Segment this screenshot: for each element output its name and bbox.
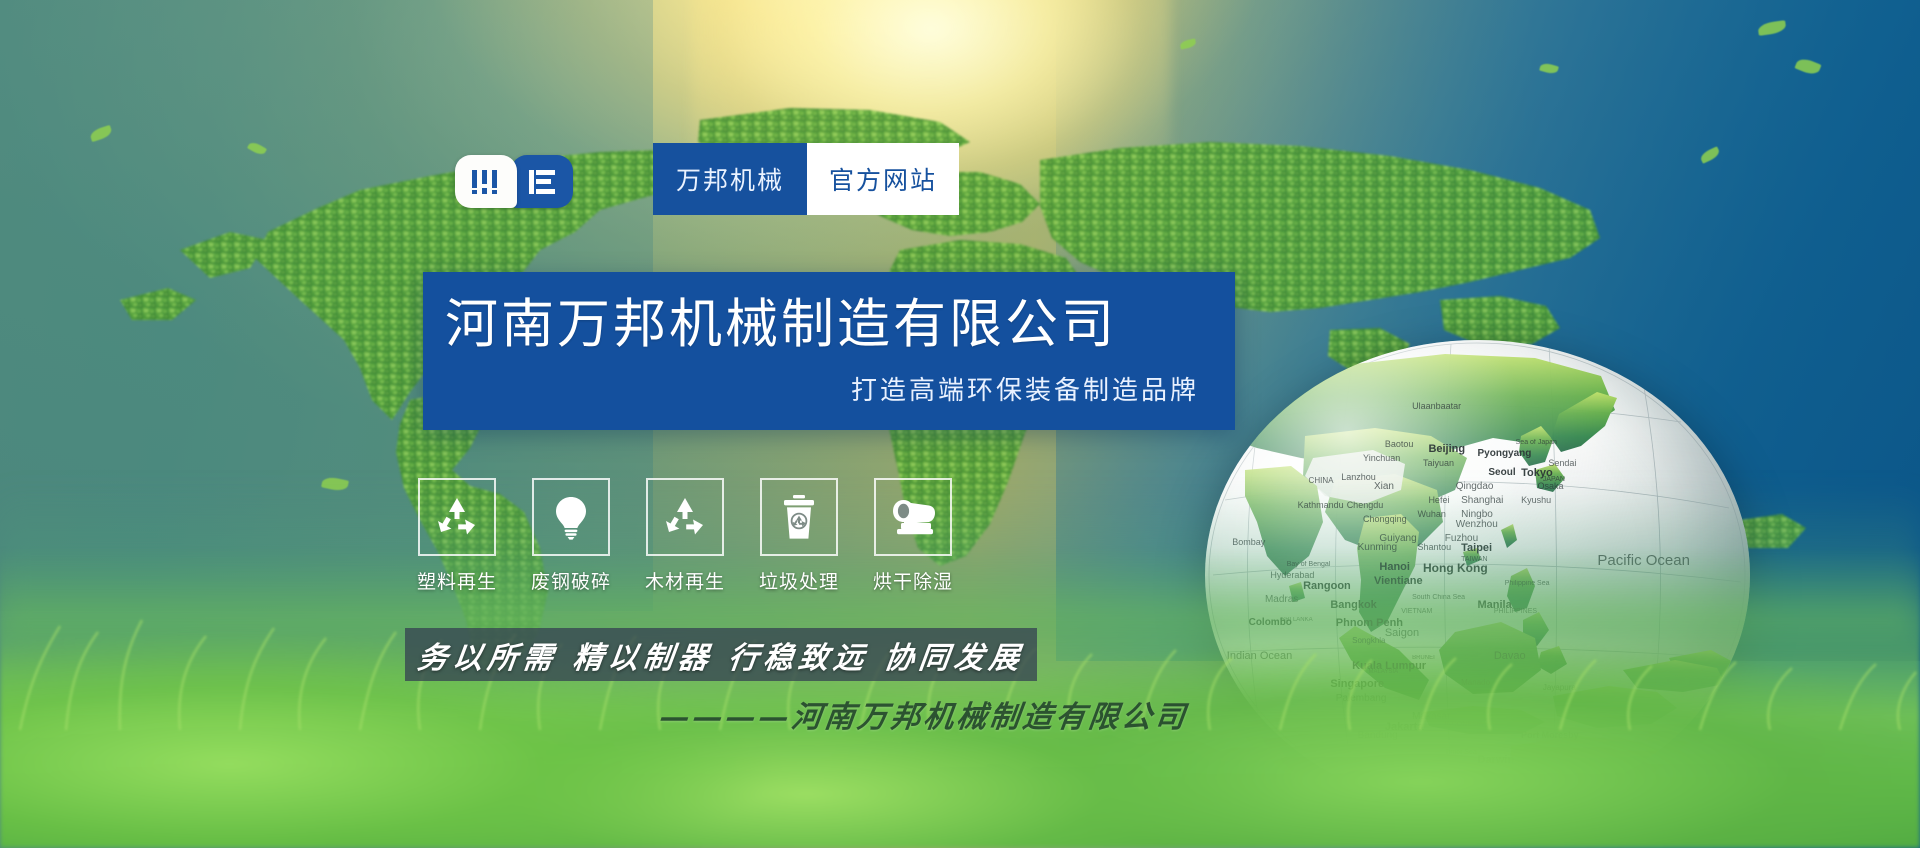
feature-label: 废钢破碎 (531, 567, 611, 594)
page-title: 河南万邦机械制造有限公司 (445, 297, 1199, 353)
feature-item-waste-treatment[interactable]: 垃圾处理 (760, 478, 838, 594)
trash-bin-icon (779, 494, 819, 540)
feature-label: 烘干除湿 (873, 567, 953, 594)
logo-w-badge (455, 155, 517, 208)
feature-item-plastic-recycling[interactable]: 塑料再生 (418, 478, 496, 594)
top-nav[interactable]: 万邦机械 官方网站 (653, 143, 959, 215)
feature-label: 垃圾处理 (759, 567, 839, 594)
feature-icon-box[interactable] (532, 478, 610, 556)
feature-item-scrap-steel-crushing[interactable]: 废钢破碎 (532, 478, 610, 594)
nav-item-company[interactable]: 万邦机械 (653, 143, 807, 215)
b-letter-mark (528, 169, 556, 195)
slogan-text: 务以所需 精以制器 行稳致远 协同发展 (415, 633, 1027, 677)
hero-banner-page: UlaanbaatarBeijingBaotouYinchuanLanzhouC… (0, 0, 1920, 848)
feature-icon-row: 塑料再生 废钢破碎 (418, 478, 952, 594)
w-letter-mark (471, 169, 501, 195)
site-logo[interactable] (455, 155, 573, 208)
main-title-banner: 河南万邦机械制造有限公司 打造高端环保装备制造品牌 (423, 272, 1235, 430)
recycle-icon (434, 494, 480, 540)
feature-icon-box[interactable] (646, 478, 724, 556)
feature-icon-box[interactable] (760, 478, 838, 556)
feature-label: 塑料再生 (417, 567, 497, 594)
slogan-signature: ————河南万邦机械制造有限公司 (657, 692, 1202, 736)
page-subtitle: 打造高端环保装备制造品牌 (445, 370, 1199, 407)
lightbulb-icon (548, 494, 594, 540)
feature-item-wood-recycling[interactable]: 木材再生 (646, 478, 724, 594)
nav-item-official-site[interactable]: 官方网站 (807, 143, 959, 215)
dryer-blower-icon (889, 497, 937, 537)
slogan-panel: 务以所需 精以制器 行稳致远 协同发展 (405, 628, 1037, 681)
recycle-icon (662, 494, 708, 540)
feature-icon-box[interactable] (874, 478, 952, 556)
logo-b-badge (511, 155, 573, 208)
feature-item-drying-dehumidifying[interactable]: 烘干除湿 (874, 478, 952, 594)
feature-icon-box[interactable] (418, 478, 496, 556)
feature-label: 木材再生 (645, 567, 725, 594)
